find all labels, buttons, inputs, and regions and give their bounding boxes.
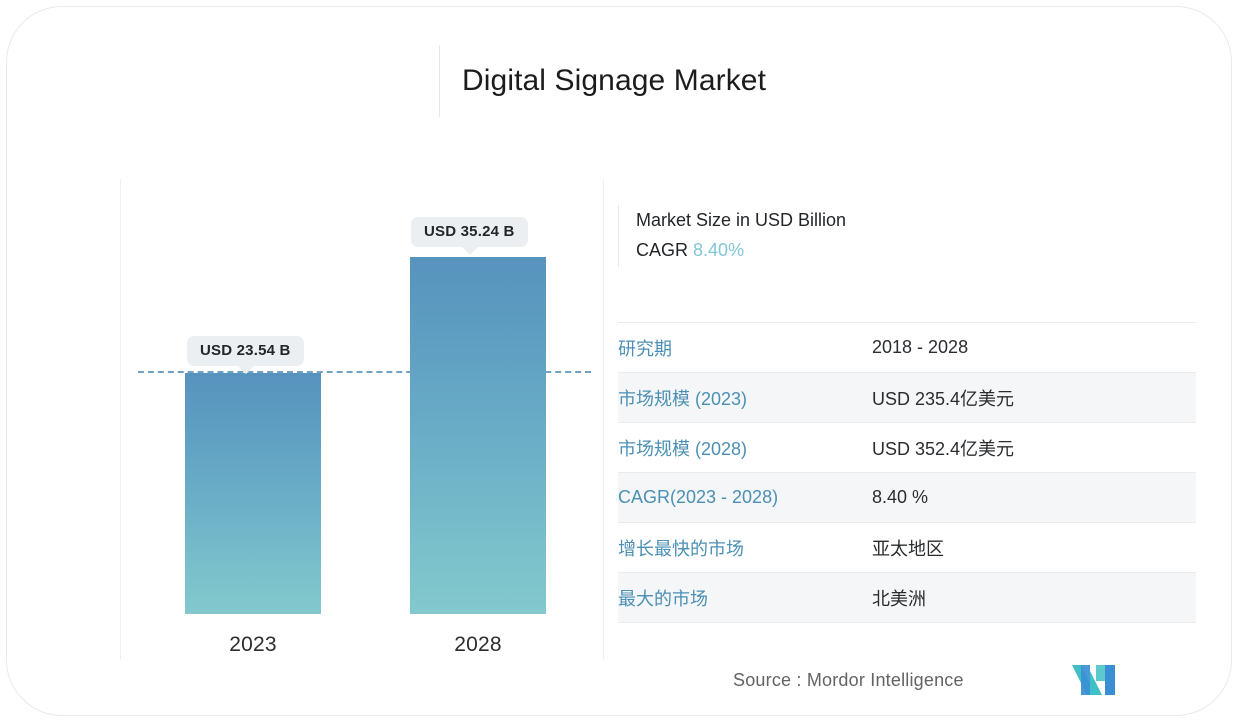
row-value: USD 352.4亿美元 <box>872 423 1196 473</box>
row-value: 8.40 % <box>872 473 1196 523</box>
row-label: 增长最快的市场 <box>618 523 872 573</box>
row-value: 北美洲 <box>872 573 1196 623</box>
market-size-caption: Market Size in USD Billion <box>636 205 846 235</box>
source-attribution: Source : Mordor Intelligence <box>733 670 964 691</box>
market-info-panel: Market Size in USD Billion CAGR 8.40% 研究… <box>603 179 1211 659</box>
row-label: 市场规模 (2023) <box>618 373 872 423</box>
table-row: CAGR(2023 - 2028) 8.40 % <box>618 473 1196 523</box>
table-row: 市场规模 (2028) USD 352.4亿美元 <box>618 423 1196 473</box>
cagr-label: CAGR <box>636 240 688 260</box>
bar-value-label-2023: USD 23.54 B <box>187 336 304 366</box>
row-label: CAGR(2023 - 2028) <box>618 473 872 523</box>
bar-value-label-2028: USD 35.24 B <box>411 217 528 247</box>
title-divider <box>439 45 440 117</box>
row-label: 研究期 <box>618 323 872 373</box>
info-header: Market Size in USD Billion CAGR 8.40% <box>618 205 846 267</box>
footer: Source : Mordor Intelligence <box>733 665 1116 695</box>
bar-2028[interactable] <box>410 257 546 614</box>
row-value: 亚太地区 <box>872 523 1196 573</box>
chart-plot-area: USD 23.54 B USD 35.24 B 2023 2028 <box>121 179 605 659</box>
bar-chart-panel: USD 23.54 B USD 35.24 B 2023 2028 <box>120 179 604 659</box>
x-axis-label-2023: 2023 <box>185 633 321 657</box>
title-block: Digital Signage Market <box>439 45 766 117</box>
x-axis-label-2028: 2028 <box>410 633 546 657</box>
page-title: Digital Signage Market <box>462 64 766 98</box>
cagr-value: 8.40% <box>693 240 744 260</box>
row-value: 2018 - 2028 <box>872 323 1196 373</box>
table-row: 增长最快的市场 亚太地区 <box>618 523 1196 573</box>
row-label: 最大的市场 <box>618 573 872 623</box>
row-value: USD 235.4亿美元 <box>872 373 1196 423</box>
bar-2023[interactable] <box>185 373 321 614</box>
mordor-intelligence-logo-icon <box>1072 665 1116 695</box>
cagr-caption: CAGR 8.40% <box>636 235 846 265</box>
infographic-card: Digital Signage Market USD 23.54 B USD 3… <box>6 6 1232 716</box>
row-label: 市场规模 (2028) <box>618 423 872 473</box>
table-row: 市场规模 (2023) USD 235.4亿美元 <box>618 373 1196 423</box>
table-row: 研究期 2018 - 2028 <box>618 323 1196 373</box>
market-spec-table: 研究期 2018 - 2028 市场规模 (2023) USD 235.4亿美元… <box>618 322 1196 623</box>
table-row: 最大的市场 北美洲 <box>618 573 1196 623</box>
